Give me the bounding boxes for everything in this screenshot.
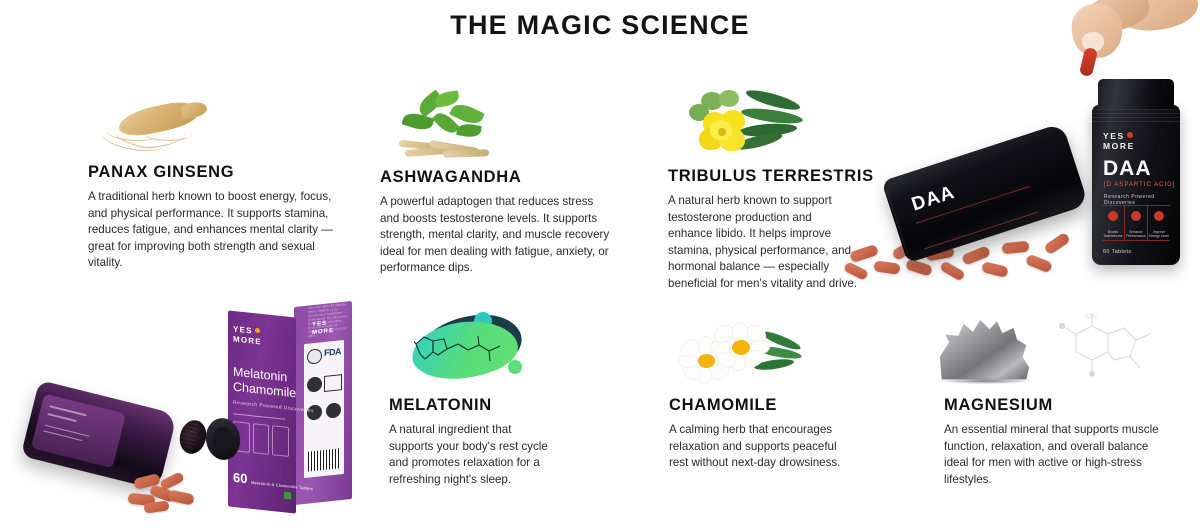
tribulus-bud [719, 90, 739, 107]
box-side-brand-line1: YES [312, 321, 327, 329]
spilled-tablet [905, 258, 933, 276]
ingredient-description: An essential mineral that supports muscl… [944, 422, 1159, 488]
brand-dot-icon [255, 328, 260, 334]
spilled-tablet [159, 471, 185, 491]
plus-badge-icon [326, 402, 341, 419]
box-side-brand-line2: MORE [312, 328, 334, 336]
daa-brand-line2: MORE [1103, 141, 1135, 151]
daa-benefit-3: Improve Energy Level [1148, 206, 1170, 240]
daa-benefit-1: Boosts Testosterone [1102, 206, 1125, 240]
melatonin-bottle-label [31, 394, 126, 469]
daa-brand-line1: YES [1103, 131, 1125, 141]
daa-bottle-upright: YES MORE DAA [D ASPARTIC ACID] Research … [1092, 105, 1180, 265]
barcode [308, 448, 340, 471]
daa-bottle-ridges [1092, 109, 1180, 125]
ingredient-melatonin: MELATONIN A natural ingredient that supp… [389, 396, 559, 488]
spilled-tablet [1025, 254, 1053, 274]
box-benefit-badges [233, 421, 289, 457]
box-side-brand: YES MORE [312, 319, 334, 337]
melatonin-bottle-cap [203, 416, 243, 462]
ingredient-description: A calming herb that encourages relaxatio… [669, 422, 859, 472]
daa-brand-logo: YES MORE [1103, 131, 1135, 151]
daa-benefit-label: Boosts Testosterone [1102, 230, 1124, 238]
spilled-tablet [143, 500, 169, 513]
gmp-badge-icon [307, 348, 322, 365]
daa-benefit-2: Enhance Performance [1125, 206, 1148, 240]
daa-benefit-icons: Boosts Testosterone Enhance Performance … [1102, 205, 1170, 241]
energy-icon [1154, 211, 1164, 221]
magnesium-molecule-icon: CH₃ [1048, 312, 1168, 392]
ingredient-chamomile: CHAMOMILE A calming herb that encourages… [669, 396, 859, 472]
ingredient-description: A natural herb known to support testoste… [668, 193, 858, 293]
ingredient-tribulus-terrestris: TRIBULUS TERRESTRIS A natural herb known… [668, 167, 858, 293]
daa-benefit-label: Enhance Performance [1125, 230, 1147, 238]
melatonin-bottle-image [10, 380, 240, 529]
spilled-tablet [939, 260, 966, 281]
ashwagandha-leaf [456, 122, 482, 139]
box-brand-logo: YES MORE [233, 324, 262, 347]
daa-product-name: DAA [1103, 157, 1152, 181]
tribulus-flower-image [683, 88, 813, 162]
box-green-dot-icon [284, 492, 291, 500]
magnesium-rock-shadow [940, 378, 1032, 384]
melatonin-structure-icon [414, 328, 524, 372]
magic-science-infographic: THE MAGIC SCIENCE [0, 0, 1200, 529]
ingredient-title: MELATONIN [389, 396, 559, 415]
spilled-tablet [873, 260, 900, 275]
ingredient-title: MAGNESIUM [944, 396, 1159, 415]
fda-badge: FDA [324, 346, 341, 358]
ingredient-description: A natural ingredient that supports your … [389, 422, 559, 488]
ingredient-description: A powerful adaptogen that reduces stress… [380, 194, 612, 277]
melatonin-molecule-image [410, 312, 540, 390]
daa-benefit-label: Improve Energy Level [1148, 230, 1170, 238]
ingredient-title: ASHWAGANDHA [380, 168, 612, 187]
spilled-tablet [167, 489, 195, 505]
calendar-icon [324, 374, 342, 392]
melatonin-chamomile-box-image: Take one tablet 30 minutes before bedtim… [228, 306, 358, 518]
brand-dot-icon [1127, 132, 1133, 138]
ingredient-title: CHAMOMILE [669, 396, 859, 415]
box-benefit-2 [253, 423, 270, 455]
ingredient-title: TRIBULUS TERRESTRIS [668, 167, 858, 186]
ginseng-root-image [100, 98, 220, 156]
tribulus-flower-center [718, 128, 726, 136]
spilled-tablet [1001, 241, 1029, 255]
daa-product-subtitle: [D ASPARTIC ACID] [1104, 181, 1175, 188]
hand-holding-tablet-image [1052, 0, 1200, 86]
spilled-tablet [1043, 232, 1071, 256]
ashwagandha-plant-image [395, 90, 515, 160]
ashwagandha-root [443, 149, 489, 158]
performance-icon [1131, 211, 1141, 221]
ingredient-panax-ginseng: PANAX GINSENG A traditional herb known t… [88, 163, 346, 272]
magnesium-mineral-image: CH₃ [938, 312, 1168, 394]
ingredient-ashwagandha: ASHWAGANDHA A powerful adaptogen that re… [380, 168, 612, 277]
chamomile-flower-image [676, 318, 806, 388]
magnesium-rock [938, 316, 1030, 382]
ingredient-magnesium: MAGNESIUM An essential mineral that supp… [944, 396, 1159, 488]
box-brand-line2: MORE [233, 334, 262, 346]
ingredient-title: PANAX GINSENG [88, 163, 346, 182]
ingredient-description: A traditional herb known to boost energy… [88, 189, 346, 272]
testosterone-icon [1108, 211, 1118, 221]
svg-text:CH₃: CH₃ [1086, 314, 1098, 320]
chamomile-flower [710, 322, 768, 370]
daa-tablet-count: 60 Tablets [1103, 249, 1131, 255]
vegan-badge-icon [307, 376, 322, 393]
box-benefit-3 [272, 425, 289, 457]
spilled-tablet [981, 261, 1009, 278]
